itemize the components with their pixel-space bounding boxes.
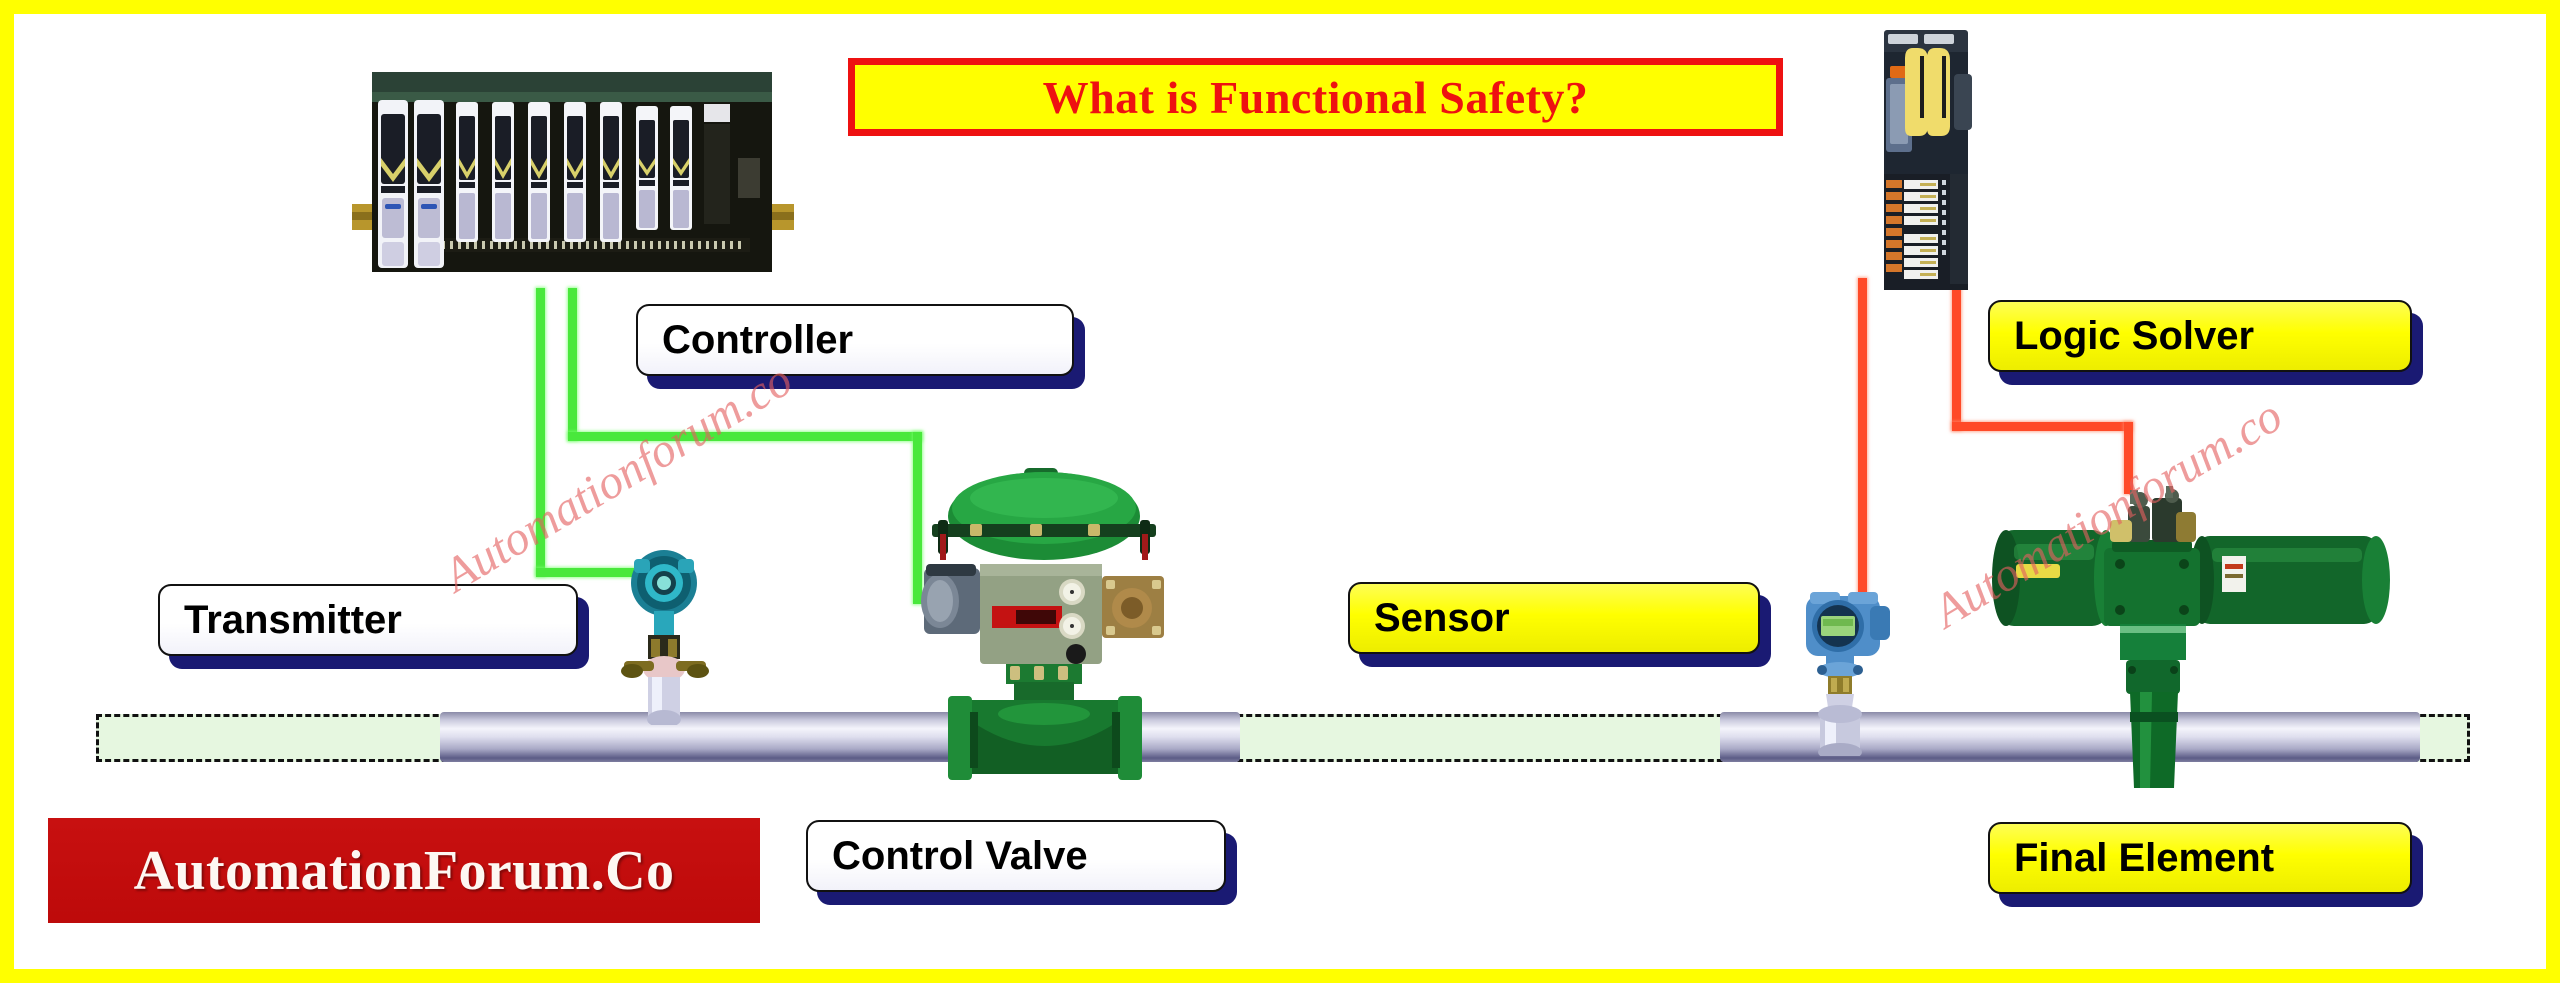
label-control-valve[interactable]: Control Valve <box>806 820 1226 892</box>
label-sensor-text: Sensor <box>1374 596 1510 641</box>
label-transmitter-face: Transmitter <box>158 584 578 656</box>
label-control-valve-text: Control Valve <box>832 834 1088 879</box>
page-title-text: What is Functional Safety? <box>1043 71 1589 124</box>
site-logo[interactable]: AutomationForum.Co <box>48 818 760 923</box>
label-controller-face: Controller <box>636 304 1074 376</box>
label-logic-solver[interactable]: Logic Solver <box>1988 300 2412 372</box>
label-control-valve-face: Control Valve <box>806 820 1226 892</box>
label-logic-solver-face: Logic Solver <box>1988 300 2412 372</box>
label-final-element-face: Final Element <box>1988 822 2412 894</box>
wire-controller-to-valve-vertical-a <box>568 288 577 440</box>
label-controller[interactable]: Controller <box>636 304 1074 376</box>
pipe-dashed-middle-gap <box>1210 714 1750 762</box>
diagram-canvas: What is Functional Safety? Controller Tr… <box>0 0 2560 983</box>
wire-logicsolver-to-sensor-vertical <box>1858 278 1867 612</box>
site-logo-text: AutomationForum.Co <box>134 839 675 903</box>
label-transmitter-text: Transmitter <box>184 598 402 643</box>
label-transmitter[interactable]: Transmitter <box>158 584 578 656</box>
label-controller-text: Controller <box>662 318 853 363</box>
page-title: What is Functional Safety? <box>848 58 1783 136</box>
control-valve[interactable] <box>896 468 1206 788</box>
wire-logicsolver-to-final-horizontal <box>1952 422 2132 431</box>
safety-logic-solver[interactable] <box>1880 22 1992 294</box>
wire-controller-to-valve-horizontal <box>568 432 922 441</box>
wire-logicsolver-to-final-vertical-a <box>1952 272 1961 430</box>
label-final-element[interactable]: Final Element <box>1988 822 2412 894</box>
label-final-element-text: Final Element <box>2014 836 2274 881</box>
plc-rack[interactable] <box>352 62 794 282</box>
label-logic-solver-text: Logic Solver <box>2014 314 2254 359</box>
wire-controller-to-transmitter-vertical <box>536 288 545 576</box>
final-element-valve[interactable] <box>1980 478 2430 788</box>
label-sensor-face: Sensor <box>1348 582 1760 654</box>
safety-sensor-transmitter[interactable] <box>1790 588 1896 756</box>
pressure-transmitter[interactable] <box>608 545 726 725</box>
label-sensor[interactable]: Sensor <box>1348 582 1760 654</box>
pipe-dashed-left-extension <box>96 714 466 762</box>
